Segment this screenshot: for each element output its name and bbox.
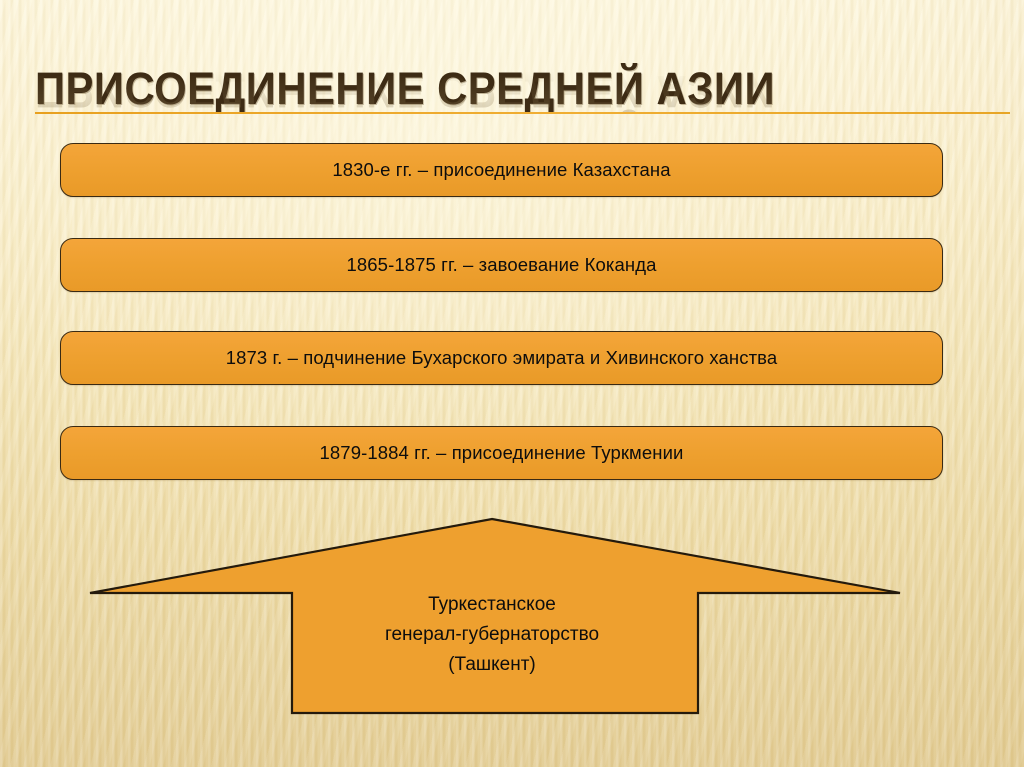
- event-label: 1879-1884 гг. – присоединение Туркмении: [320, 442, 684, 464]
- event-label: 1865-1875 гг. – завоевание Коканда: [347, 254, 657, 276]
- slide-canvas: Присоединение Средней Азии Присоединение…: [0, 0, 1024, 767]
- up-arrow-icon[interactable]: [80, 512, 910, 720]
- page-title: Присоединение Средней Азии: [35, 66, 775, 112]
- event-label: 1830-е гг. – присоединение Казахстана: [332, 159, 670, 181]
- event-label: 1873 г. – подчинение Бухарского эмирата …: [226, 347, 778, 369]
- event-box-kokand[interactable]: 1865-1875 гг. – завоевание Коканда: [60, 238, 943, 292]
- event-box-kazakhstan[interactable]: 1830-е гг. – присоединение Казахстана: [60, 143, 943, 197]
- event-box-bukhara-khiva[interactable]: 1873 г. – подчинение Бухарского эмирата …: [60, 331, 943, 385]
- event-box-turkmenia[interactable]: 1879-1884 гг. – присоединение Туркмении: [60, 426, 943, 480]
- title-block: Присоединение Средней Азии Присоединение…: [35, 66, 1015, 146]
- title-underline-rule: [35, 112, 1010, 114]
